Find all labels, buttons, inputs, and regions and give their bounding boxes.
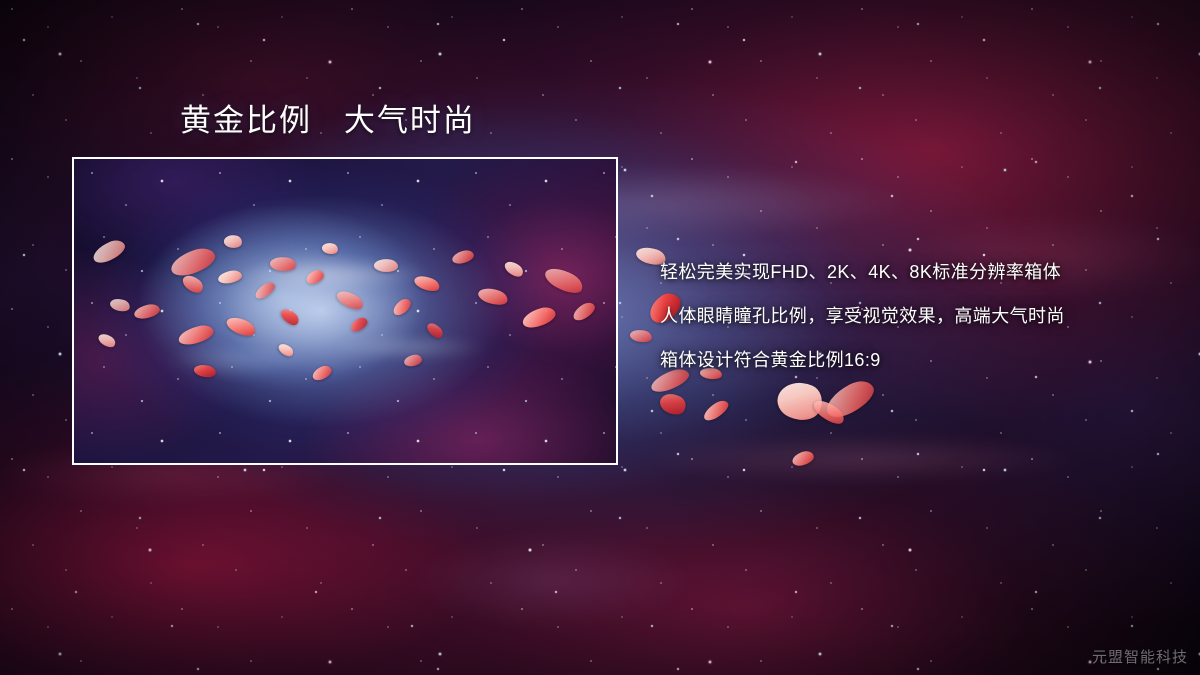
petal xyxy=(811,396,848,429)
body-line-3: 箱体设计符合黄金比例16:9 xyxy=(660,338,1160,382)
body-text-block: 轻松完美实现FHD、2K、4K、8K标准分辨率箱体 人体眼睛瞳孔比例，享受视觉效… xyxy=(660,250,1160,382)
presentation-slide: 黄金比例 大气时尚 轻松完美实现FHD、2K、4K、8K标准分辨率箱体 人体眼睛… xyxy=(0,0,1200,675)
slide-title: 黄金比例 大气时尚 xyxy=(180,100,476,142)
panel-starfield xyxy=(74,159,616,463)
panel-image xyxy=(74,159,616,463)
framed-image-panel xyxy=(72,157,618,465)
petal xyxy=(701,398,732,424)
petal xyxy=(821,375,879,422)
company-watermark: 元盟智能科技 xyxy=(1092,646,1188,667)
petal xyxy=(791,450,815,468)
body-line-1: 轻松完美实现FHD、2K、4K、8K标准分辨率箱体 xyxy=(660,250,1160,294)
petal xyxy=(629,328,653,344)
petal xyxy=(657,389,690,419)
petal xyxy=(772,375,828,428)
body-line-2: 人体眼睛瞳孔比例，享受视觉效果，高端大气时尚 xyxy=(660,294,1160,338)
